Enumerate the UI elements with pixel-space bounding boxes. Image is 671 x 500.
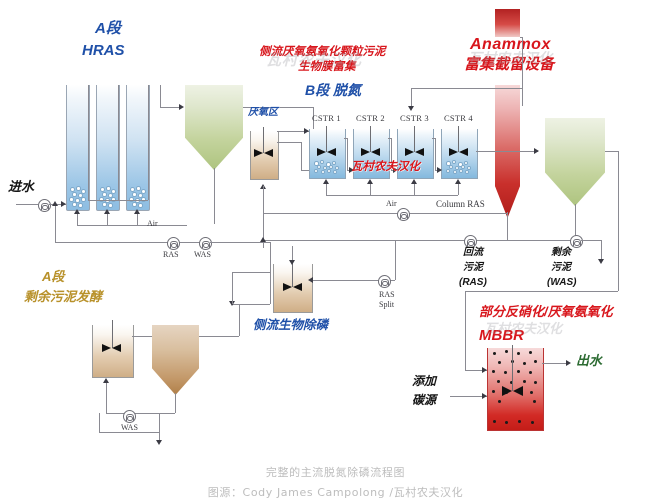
- caption-line-2: 图源：Cody James Campolong /瓦村农夫汉化: [0, 484, 671, 500]
- a-was-branch-h: [232, 272, 270, 273]
- cstr4-to-clarifier-arrow: [534, 148, 539, 154]
- anoxic-out-v: [301, 142, 302, 170]
- label-return-sludge-l1: 回流: [463, 247, 483, 259]
- ferment-was-riser: [99, 413, 100, 432]
- was-pump-a-stage: [199, 237, 212, 250]
- ras-pump-a-stage: [167, 237, 180, 250]
- a-air-arrow-2: [104, 209, 110, 214]
- label-was-a-stage: WAS: [194, 250, 211, 259]
- label-carbon-source-l1: 添加: [412, 375, 436, 389]
- a-ras-riser: [55, 204, 56, 242]
- label-air-b-stage: Air: [386, 199, 397, 208]
- b-stage-air-header: [326, 195, 458, 196]
- title-b-stage: B段 脱氮: [305, 82, 361, 98]
- anammox-bottom-return-v: [507, 212, 508, 240]
- label-influent: 进水: [8, 180, 34, 195]
- title-a-ferment-line1: A段: [42, 270, 64, 285]
- effluent-arrow: [566, 360, 571, 366]
- label-waste-sludge-l2: 污泥: [551, 262, 571, 274]
- cstr-4-impeller: [449, 148, 468, 157]
- influent-pipe-a: [16, 204, 38, 205]
- bio-p-feed-arrow: [289, 260, 295, 265]
- cstr-2-3-link-top: [388, 138, 391, 139]
- anammox-seed-arrow: [408, 106, 414, 111]
- cstr-3-impeller: [405, 148, 424, 157]
- label-cstr-3: CSTR 3: [400, 114, 429, 124]
- title-a-stage: A段: [95, 20, 121, 37]
- fermenter-to-thickener: [132, 336, 152, 337]
- cstr-2-impeller: [361, 148, 380, 157]
- ras-split-pump: [378, 275, 391, 288]
- cstr-3-4-link-v: [435, 138, 436, 170]
- hras-column-1-bubbles: [68, 186, 86, 208]
- title-a-stage-hras: HRAS: [82, 42, 125, 59]
- thickener-underflow-v: [175, 393, 176, 413]
- cstr-1-2-link-top: [344, 138, 347, 139]
- a-air-arrow-1: [74, 209, 80, 214]
- a-was-line: [210, 242, 270, 243]
- mbbr-impeller: [502, 386, 523, 396]
- a-stage-air-header: [77, 225, 187, 226]
- hras-column-3-bubbles: [128, 186, 146, 208]
- anammox-column-top: [495, 9, 520, 37]
- ras-split-arrow: [308, 277, 313, 283]
- title-sidestream-anammox-line1: 侧流厌氧氨氧化颗粒污泥: [259, 46, 386, 59]
- b-air-arrow-2: [367, 179, 373, 184]
- hras-weir-1: [88, 85, 89, 200]
- label-cstr-2: CSTR 2: [356, 114, 385, 124]
- title-anammox-cn: 富集截留设备: [464, 56, 554, 73]
- ferment-was-out-arrow: [156, 440, 162, 445]
- fermenter-recycle-riser: [106, 381, 107, 413]
- mbbr-inlet-arrow: [482, 367, 487, 373]
- influent-pump: [38, 199, 51, 212]
- column-ras-pump: [397, 208, 410, 221]
- caption-line-1: 完整的主流脱氮除磷流程图: [0, 464, 671, 480]
- label-column-ras: Column RAS: [436, 199, 485, 209]
- cstr-4-bubbles: [445, 160, 471, 175]
- label-carbon-source-l2: 碳源: [412, 394, 436, 408]
- label-ras-split-l2: Split: [379, 300, 394, 309]
- label-was-ferment: WAS: [121, 423, 138, 432]
- carbon-source-arrow: [482, 393, 487, 399]
- anammox-top-feed-h: [520, 37, 522, 38]
- b-ras-line: [263, 240, 575, 241]
- a-stage-clarifier: [185, 85, 243, 170]
- b-clarifier-effluent-h: [605, 151, 618, 152]
- label-anoxic-zone: 厌氧区: [248, 107, 278, 119]
- b-air-arrow-4: [455, 179, 461, 184]
- sidestream-bio-p-impeller: [283, 283, 302, 292]
- hras-link-2-3: [118, 200, 148, 201]
- b-air-arrow-1: [323, 179, 329, 184]
- mbbr-inlet-h: [465, 291, 618, 292]
- anammox-seed-to-cstr3: [411, 88, 412, 108]
- column-ras-line: [263, 213, 507, 214]
- a-was-drop: [270, 242, 271, 304]
- cstr-1-impeller: [317, 148, 336, 157]
- thickener-underflow-h: [106, 413, 175, 414]
- b-air-arrow-3: [411, 179, 417, 184]
- a-air-arrow-3: [134, 209, 140, 214]
- effluent-line: [542, 363, 569, 364]
- label-ras-split-l1: RAS: [379, 290, 395, 299]
- anammox-top-feed-v: [522, 37, 523, 106]
- a-clarifier-underflow: [214, 168, 215, 224]
- a-ras-arrow: [52, 201, 58, 206]
- anoxic-out-top: [277, 142, 301, 143]
- title-mbbr-line1: 部分反硝化/厌氧氨氧化: [479, 305, 613, 320]
- hras-link-1-2: [88, 200, 118, 201]
- cstr-1-2-link-v: [347, 138, 348, 170]
- a-was-to-ferment: [232, 304, 270, 305]
- hras-weir-3: [148, 85, 149, 200]
- ras-split-riser: [395, 240, 396, 280]
- b-was-out-arrow: [598, 259, 604, 264]
- sludge-thickener: [152, 325, 199, 395]
- a-was-branch: [232, 272, 233, 304]
- b-ras-return-arrow: [260, 237, 266, 242]
- title-anammox-en: Anammox: [470, 36, 551, 54]
- title-sidestream-bio-p: 侧流生物除磷: [253, 318, 328, 332]
- label-return-sludge-l3: (RAS): [459, 277, 487, 289]
- cstr4-to-clarifier: [476, 151, 538, 152]
- title-sidestream-anammox-line2: 生物膜富集: [298, 61, 356, 74]
- label-waste-sludge-l3: (WAS): [547, 277, 576, 289]
- influent-arrow: [61, 201, 66, 207]
- hras-outlet-riser: [160, 85, 161, 107]
- ferment-was-pump: [123, 410, 136, 423]
- b-stage-clarifier: [545, 118, 605, 206]
- b-was-out-h: [581, 240, 601, 241]
- process-flow-diagram: A段 HRAS 侧流厌氧氨氧化颗粒污泥 生物膜富集 瓦村农夫汉化 B段 脱氮 A…: [0, 0, 671, 500]
- label-cstr-1: CSTR 1: [312, 114, 341, 124]
- fermenter-impeller: [102, 344, 121, 353]
- cstr-3-4-arrow: [437, 167, 442, 173]
- label-air-a-stage: Air: [147, 219, 158, 228]
- hras-outlet-arrow: [179, 104, 184, 110]
- title-a-ferment-line2: 剩余污泥发酵: [24, 290, 102, 305]
- a-ras-return-line: [55, 242, 214, 243]
- label-return-sludge-l2: 污泥: [463, 262, 483, 274]
- fermenter-recycle-arrow: [103, 378, 109, 383]
- cstr-3-4-link-top: [432, 138, 435, 139]
- label-effluent: 出水: [576, 354, 602, 369]
- anaerobic-mixer-impeller: [254, 149, 273, 158]
- hras-weir-2: [118, 85, 119, 200]
- watermark-red-overlay: 瓦村农夫汉化: [351, 158, 420, 174]
- label-cstr-4: CSTR 4: [444, 114, 473, 124]
- cstr-1-bubbles: [313, 160, 339, 175]
- b-clarifier-effluent-v: [618, 151, 619, 291]
- mbbr-inlet-v: [465, 291, 466, 370]
- hras-column-2-bubbles: [98, 186, 116, 208]
- label-waste-sludge-l1: 剩余: [551, 247, 571, 259]
- mbbr-shaft: [512, 345, 513, 391]
- thickener-overflow: [199, 336, 239, 337]
- title-mbbr-line2: MBBR: [479, 327, 524, 344]
- label-ras-a-stage: RAS: [163, 250, 179, 259]
- b-was-pump: [570, 235, 583, 248]
- ferment-was-out-v: [159, 413, 160, 443]
- thickener-overflow-riser: [239, 304, 240, 336]
- anammox-seed-h: [411, 88, 522, 89]
